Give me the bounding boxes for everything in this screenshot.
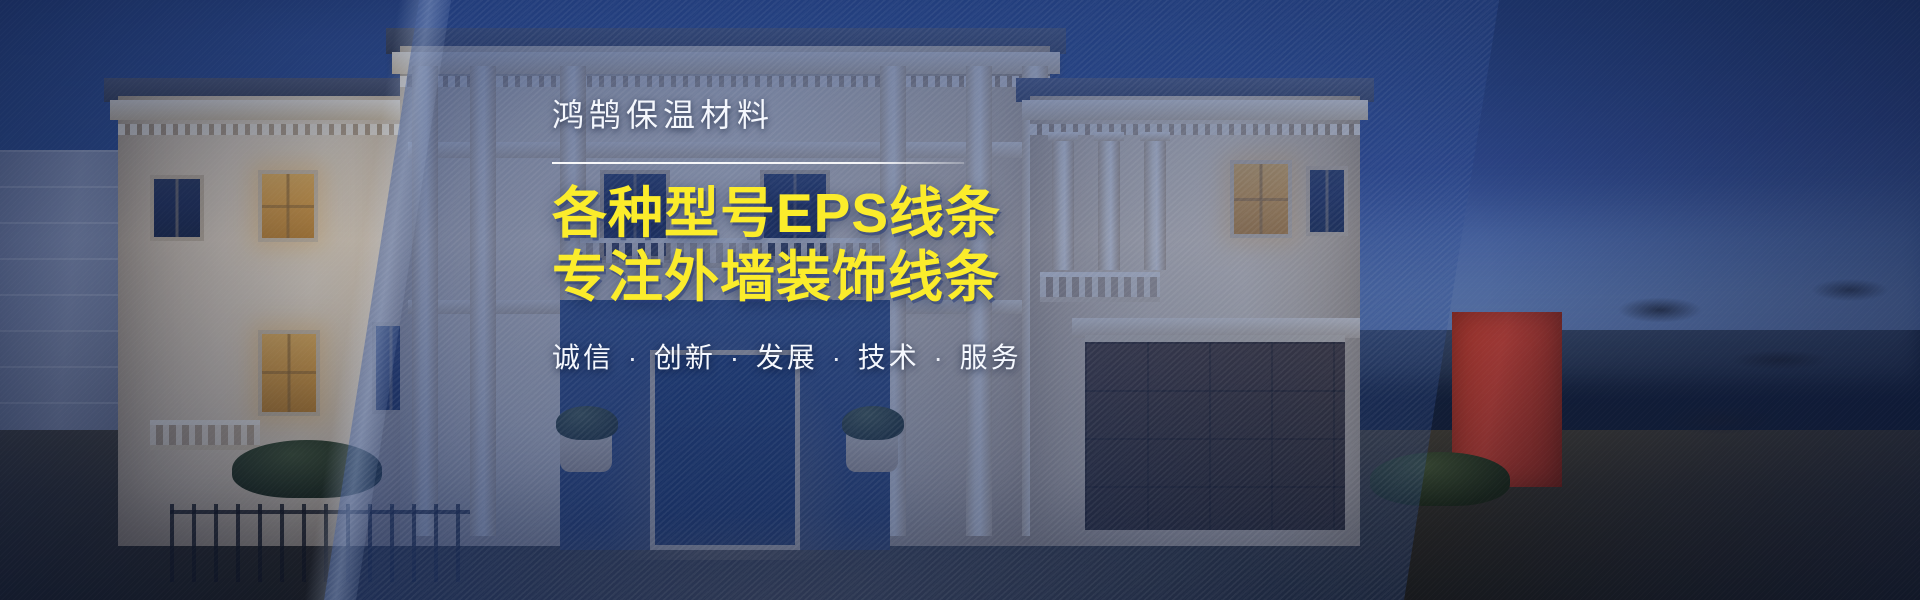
brand-name: 鸿鹄保温材料 <box>552 96 1092 134</box>
tagline-item: 诚信 <box>552 342 614 373</box>
tagline-item: 技术 <box>858 342 920 373</box>
tagline-item: 创新 <box>654 342 716 373</box>
headline-line-2: 专注外墙装饰线条 <box>552 246 1092 310</box>
headline-line-1: 各种型号EPS线条 <box>552 182 1092 246</box>
tagline-separator: · <box>716 342 756 373</box>
tagline-item: 服务 <box>960 342 1022 373</box>
promo-banner: 鸿鹄保温材料 各种型号EPS线条 专注外墙装饰线条 诚信 · 创新 · 发展 ·… <box>0 0 1920 600</box>
text-divider <box>552 162 964 164</box>
banner-text-block: 鸿鹄保温材料 各种型号EPS线条 专注外墙装饰线条 诚信 · 创新 · 发展 ·… <box>552 96 1092 376</box>
tagline: 诚信 · 创新 · 发展 · 技术 · 服务 <box>552 336 1092 376</box>
tagline-separator: · <box>614 342 654 373</box>
tagline-separator: · <box>920 342 960 373</box>
tagline-separator: · <box>818 342 858 373</box>
tagline-item: 发展 <box>756 342 818 373</box>
